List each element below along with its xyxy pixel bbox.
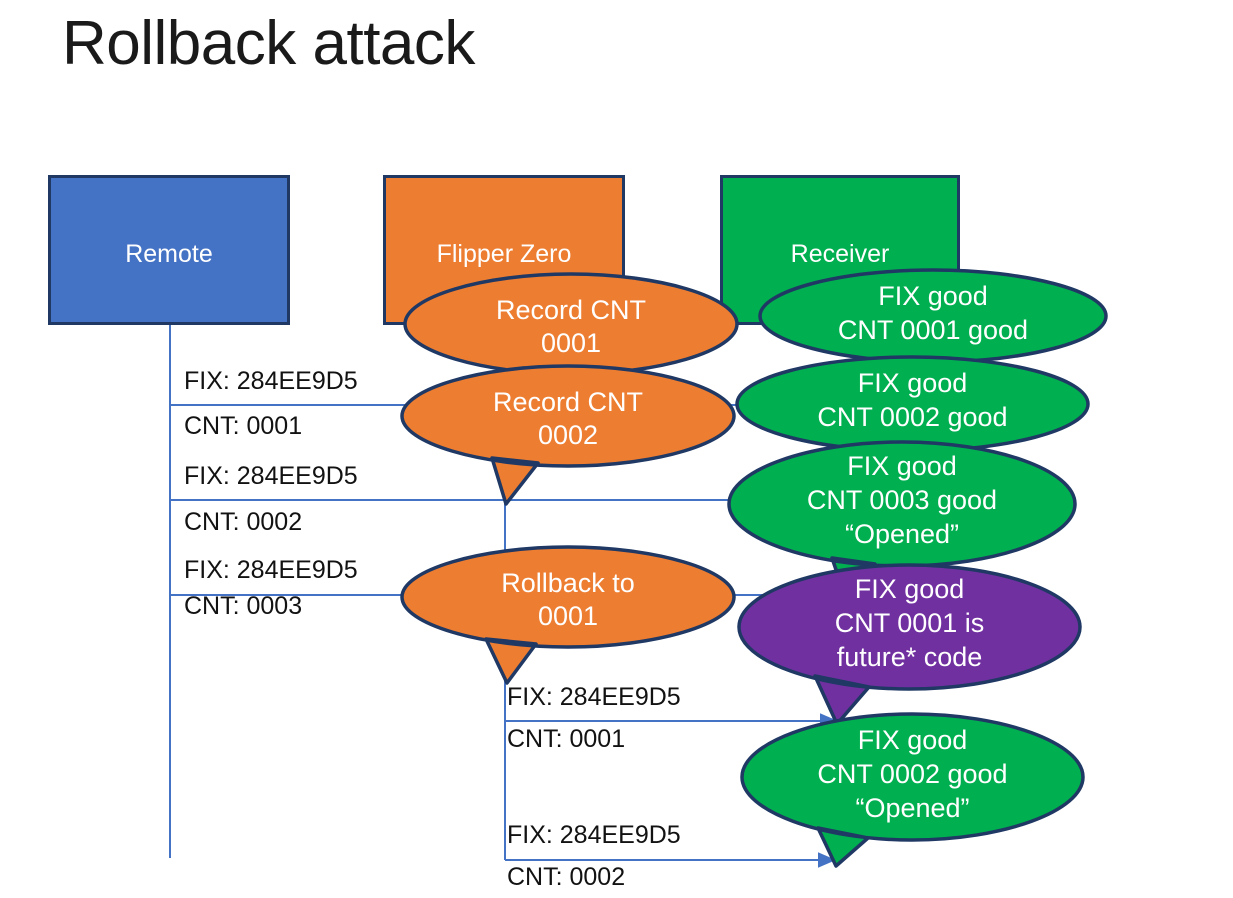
message-1-cnt: CNT: 0001 [184, 413, 302, 439]
message-4-cnt: CNT: 0001 [507, 726, 625, 752]
callout-bubble-receiver-5[interactable]: FIX good CNT 0002 good “Opened” [740, 712, 1085, 842]
message-1-fix: FIX: 284EE9D5 [184, 368, 358, 394]
callout-bubble-receiver-3[interactable]: FIX good CNT 0003 good “Opened” [727, 440, 1077, 568]
actor-label-receiver: Receiver [723, 240, 957, 269]
callout-bubble-receiver-2[interactable]: FIX good CNT 0002 good [735, 355, 1090, 453]
actor-label-flipper: Flipper Zero [386, 240, 622, 269]
message-2-fix: FIX: 284EE9D5 [184, 463, 358, 489]
callout-bubble-record-0001[interactable]: Record CNT 0001 [403, 272, 739, 376]
message-5-fix: FIX: 284EE9D5 [507, 822, 681, 848]
message-3-fix: FIX: 284EE9D5 [184, 557, 358, 583]
callout-bubble-record-0002[interactable]: Record CNT 0002 [400, 364, 736, 468]
slide-canvas: Rollback attack Remote Flipper Zero Rece… [0, 0, 1233, 898]
message-2-cnt: CNT: 0002 [184, 509, 302, 535]
message-5-cnt: CNT: 0002 [507, 864, 625, 890]
callout-bubble-receiver-4-alert[interactable]: FIX good CNT 0001 is future* code [737, 563, 1082, 691]
actor-label-remote: Remote [51, 240, 287, 269]
callout-bubble-rollback-0001[interactable]: Rollback to 0001 [400, 545, 736, 649]
actor-box-remote[interactable]: Remote [48, 175, 290, 325]
message-3-cnt: CNT: 0003 [184, 593, 302, 619]
callout-bubble-receiver-1[interactable]: FIX good CNT 0001 good [758, 268, 1108, 364]
